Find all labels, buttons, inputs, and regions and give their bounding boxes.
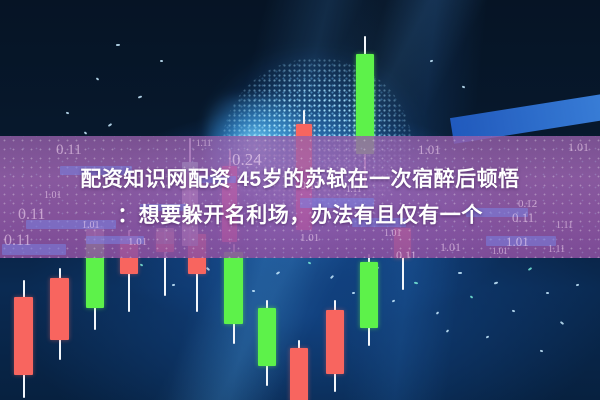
speck-particle (540, 350, 543, 353)
candlestick-c2 (50, 268, 69, 360)
candlestick-body (224, 252, 243, 324)
band-number-label: 1.01 (568, 140, 589, 155)
banner-image: 0.111.110.241.010.111.010.111.011.011.01… (0, 0, 600, 400)
candlestick-c13 (360, 254, 378, 346)
candlestick-c10 (258, 300, 276, 386)
speck-particle (66, 112, 69, 115)
headline-line-1: 配资知识网配资 45岁的苏轼在一次宿醉后顿悟 (8, 162, 592, 198)
band-number-label: 0.11 (56, 142, 82, 159)
candlestick-c9 (224, 244, 243, 344)
candlestick-body (326, 310, 344, 374)
candlestick-c11 (290, 340, 308, 400)
speck-particle (546, 292, 549, 294)
candlestick-body (258, 308, 276, 366)
band-number-label: 1.01 (418, 142, 441, 158)
candlestick-body (50, 278, 69, 340)
candlestick-body (14, 297, 33, 375)
band-number-label: 1.01 (506, 234, 529, 250)
headline-text: 配资知识网配资 45岁的苏轼在一次宿醉后顿悟 ：想要躲开名利场，办法有且仅有一个 (0, 162, 600, 234)
candlestick-body (360, 262, 378, 328)
speck-particle (458, 272, 462, 274)
band-number-label: 0.11 (396, 248, 417, 258)
band-number-label: 1.01 (128, 236, 147, 248)
speck-particle (252, 290, 255, 292)
candlestick-body (290, 348, 308, 400)
band-number-label: 1.11 (548, 244, 565, 255)
band-number-label: 1.01 (440, 240, 461, 255)
band-number-label: 0.11 (4, 232, 31, 250)
band-number-label: 1.01 (492, 246, 508, 256)
candlestick-c1 (14, 280, 33, 398)
band-number-label: 1.11 (196, 138, 211, 148)
speck-particle (160, 60, 163, 62)
candlestick-c12 (326, 300, 344, 392)
headline-line-2: ：想要躲开名利场，办法有且仅有一个 (8, 198, 592, 234)
